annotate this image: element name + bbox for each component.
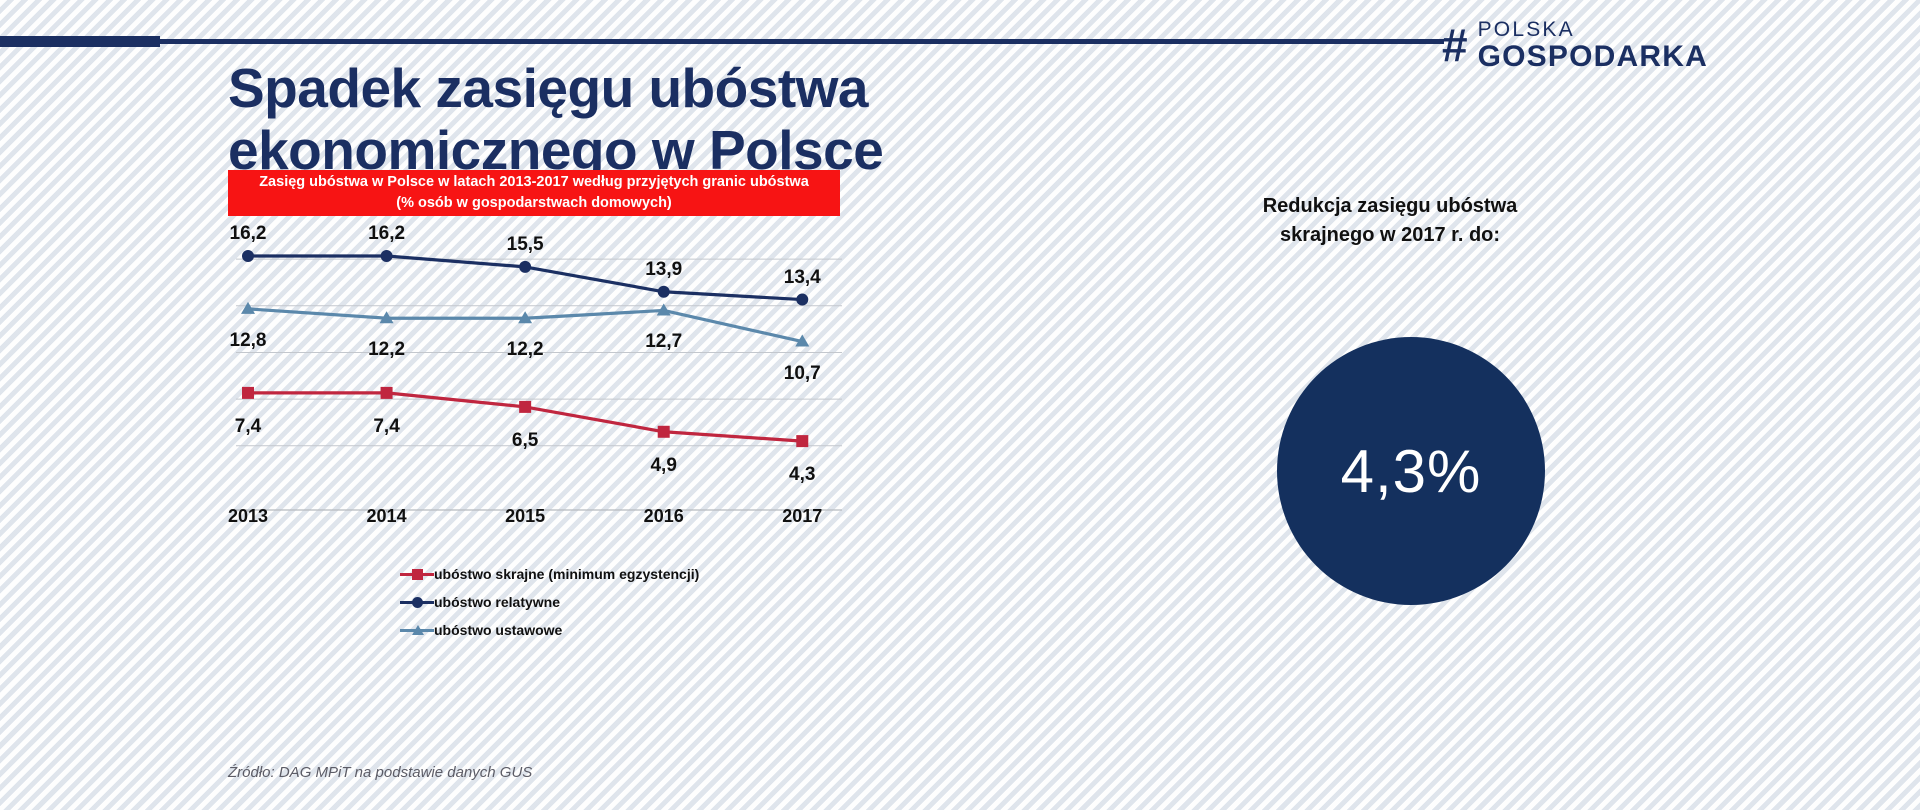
legend-item[interactable]: ubóstwo relatywne — [400, 588, 820, 616]
chart-caption-line2: (% osób w gospodarstwach domowych) — [396, 193, 672, 214]
chart-plot-area: 7,47,46,54,94,316,216,215,513,913,412,81… — [228, 222, 848, 512]
hash-icon: # — [1442, 22, 1466, 68]
chart-caption-line1: Zasięg ubóstwa w Polsce w latach 2013-20… — [259, 172, 809, 193]
chart-value-label: 7,4 — [373, 416, 399, 438]
brand-wordmark: POLSKA GOSPODARKA — [1478, 19, 1708, 72]
chart-data-point — [242, 250, 254, 262]
chart-value-label: 16,2 — [368, 223, 405, 245]
chart-data-point — [658, 426, 670, 438]
chart-data-point — [519, 401, 531, 413]
chart-value-label: 15,5 — [507, 234, 544, 256]
chart-x-tick-label: 2017 — [782, 506, 822, 527]
legend-item-label: ubóstwo relatywne — [434, 594, 560, 610]
brand-logo: # POLSKA GOSPODARKA — [1442, 14, 1742, 76]
chart-data-point — [381, 387, 393, 399]
kpi-circle: 4,3% — [1277, 337, 1545, 605]
legend-item-label: ubóstwo skrajne (minimum egzystencji) — [434, 566, 699, 582]
chart-data-point — [519, 261, 531, 273]
kpi-heading: Redukcja zasięgu ubóstwa skrajnego w 201… — [1230, 192, 1550, 250]
kpi-value: 4,3% — [1341, 437, 1482, 506]
header-rule-thick — [0, 36, 160, 47]
legend-item[interactable]: ubóstwo skrajne (minimum egzystencji) — [400, 560, 820, 588]
chart-x-axis: 20132014201520162017 — [228, 500, 848, 534]
chart-value-label: 12,7 — [645, 331, 682, 353]
chart-x-tick-label: 2013 — [228, 506, 268, 527]
chart-value-label: 12,8 — [230, 330, 267, 352]
chart-legend: ubóstwo skrajne (minimum egzystencji)ubó… — [400, 560, 820, 644]
header-rule-thin — [156, 39, 1444, 44]
legend-marker-icon — [400, 595, 434, 609]
chart-x-tick-label: 2014 — [367, 506, 407, 527]
chart-value-label: 6,5 — [512, 430, 538, 452]
chart-data-point — [796, 435, 808, 447]
chart-value-label: 10,7 — [784, 363, 821, 385]
chart-value-label: 12,2 — [368, 339, 405, 361]
legend-item-label: ubóstwo ustawowe — [434, 622, 562, 638]
legend-marker-icon — [400, 567, 434, 581]
chart-data-point — [242, 387, 254, 399]
brand-line-polska: POLSKA — [1478, 19, 1708, 40]
page-title: Spadek zasięgu ubóstwa ekonomicznego w P… — [228, 58, 1048, 181]
chart-value-label: 13,4 — [784, 267, 821, 289]
chart-caption-banner: Zasięg ubóstwa w Polsce w latach 2013-20… — [228, 170, 840, 216]
chart-value-label: 7,4 — [235, 416, 261, 438]
chart-x-tick-label: 2016 — [644, 506, 684, 527]
chart-x-tick-label: 2015 — [505, 506, 545, 527]
brand-line-gospodarka: GOSPODARKA — [1478, 42, 1708, 72]
chart-svg — [228, 222, 848, 512]
source-note: Źródło: DAG MPiT na podstawie danych GUS — [228, 764, 532, 781]
legend-item[interactable]: ubóstwo ustawowe — [400, 616, 820, 644]
chart-value-label: 4,9 — [650, 455, 676, 477]
chart-data-point — [796, 294, 808, 306]
chart-data-point — [381, 250, 393, 262]
line-chart: 7,47,46,54,94,316,216,215,513,913,412,81… — [228, 222, 848, 512]
chart-value-label: 13,9 — [645, 259, 682, 281]
legend-marker-icon — [400, 623, 434, 637]
chart-value-label: 12,2 — [507, 339, 544, 361]
chart-value-label: 16,2 — [230, 223, 267, 245]
chart-data-point — [658, 286, 670, 298]
chart-value-label: 4,3 — [789, 464, 815, 486]
